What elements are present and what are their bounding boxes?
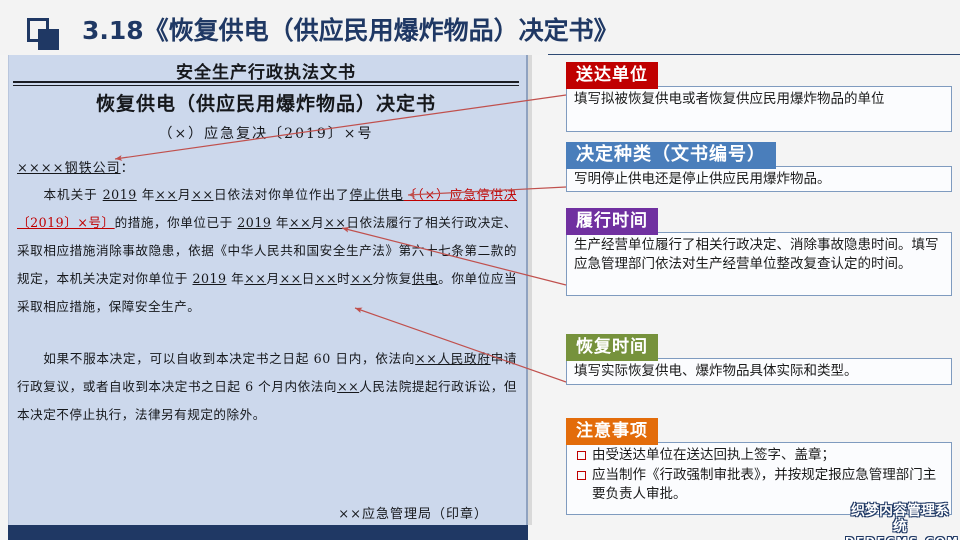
p1-seg-12: 年 (271, 215, 289, 230)
p1-month-3: ×× (244, 271, 266, 286)
p1-seg-7: 日依法对你单位作出了 (214, 187, 350, 202)
p1-hour: ×× (315, 271, 337, 286)
document-bottom-bar (8, 525, 528, 540)
p1-day-1: ×× (191, 187, 213, 202)
document-paragraph-2: 如果不服本决定，可以自收到本决定书之日起 60 日内，依法向××人民政府申请行政… (17, 345, 517, 429)
p2-seg-1: 如果不服本决定，可以自收到本决定书之日起 60 日内，依法向 (43, 351, 415, 366)
p1-year-1: 2019 (103, 187, 137, 202)
annotation-panel-performance-time[interactable]: 履行时间 生产经营单位履行了相关行政决定、消除事故隐患时间。填写应急管理部门依法… (566, 208, 952, 296)
panel-tag-label: 决定种类（文书编号） (566, 142, 776, 169)
p1-measure: 停止供电 (350, 187, 404, 202)
p1-year-2: 2019 (237, 215, 271, 230)
watermark: 织梦内容管理系统 DEDECMS.COM (845, 503, 955, 540)
annotation-panel-notes[interactable]: 注意事项 由受送达单位在送达回执上签字、盖章； 应当制作《行政强制审批表》，并按… (566, 418, 952, 515)
p1-month-1: ×× (155, 187, 177, 202)
slide-header: 3.18《恢复供电（供应民用爆炸物品）决定书》 (0, 0, 960, 55)
document-heading-small: 安全生产行政执法文书 (9, 58, 523, 83)
panel-body-text: 写明停止供电还是停止供应民用爆炸物品。 (566, 166, 952, 192)
double-square-logo-icon (27, 18, 61, 52)
p2-court: ×× (337, 379, 359, 394)
p1-seg-14: 月 (311, 215, 324, 230)
p1-seg-24: 时 (337, 271, 350, 286)
note-text: 由受送达单位在送达回执上签字、盖章； (592, 446, 944, 465)
document-right-edge (528, 55, 532, 525)
checkbox-square-icon (577, 451, 586, 460)
p1-day-2: ×× (324, 215, 346, 230)
page-title: 3.18《恢复供电（供应民用爆炸物品）决定书》 (82, 15, 619, 47)
p1-seg-20: 月 (266, 271, 279, 286)
note-text: 应当制作《行政强制审批表》，并按规定报应急管理部门主要负责人审批。 (592, 466, 944, 504)
panel-body-text: 填写拟被恢复供电或者恢复供应民用爆炸物品的单位 (566, 86, 952, 132)
watermark-cn: 织梦内容管理系统 (845, 503, 955, 535)
document-heading-large: 恢复供电（供应民用爆炸物品）决定书 (9, 89, 523, 116)
document-paragraph-1: 本机关于 2019 年××月××日依法对你单位作出了停止供电〔（×）应急停供决〔… (17, 181, 517, 321)
header-divider (548, 54, 960, 55)
panel-body-text: 生产经营单位履行了相关行政决定、消除事故隐患时间。填写应急管理部门依法对生产经营… (566, 232, 952, 296)
p1-seg-10: 的措施，你单位已于 (115, 215, 238, 230)
document-preview[interactable]: 安全生产行政执法文书 恢复供电（供应民用爆炸物品）决定书 （×）应急复决〔201… (8, 55, 528, 525)
slide-canvas: 3.18《恢复供电（供应民用爆炸物品）决定书》 安全生产行政执法文书 恢复供电（… (0, 0, 960, 540)
annotation-panel-restore-time[interactable]: 恢复时间 填写实际恢复供电、爆炸物品具体实际和类型。 (566, 334, 952, 385)
note-item: 应当制作《行政强制审批表》，并按规定报应急管理部门主要负责人审批。 (577, 466, 944, 504)
panel-tag-label: 恢复时间 (566, 334, 658, 361)
panel-tag-label: 注意事项 (566, 418, 658, 445)
p1-seg-5: 月 (177, 187, 191, 202)
note-item: 由受送达单位在送达回执上签字、盖章； (577, 446, 944, 465)
document-top-rule (13, 81, 519, 86)
panel-tag-label: 履行时间 (566, 208, 658, 235)
p1-seg-26: 分恢复 (372, 271, 412, 286)
document-addressee: ××××钢铁公司： (17, 157, 135, 176)
p1-seg-3: 年 (137, 187, 156, 202)
p1-year-3: 2019 (193, 271, 227, 286)
annotation-panel-decision-type[interactable]: 决定种类（文书编号） 写明停止供电还是停止供应民用爆炸物品。 (566, 142, 952, 192)
p1-minute: ×× (350, 271, 372, 286)
document-number: （×）应急复决〔2019〕×号 (9, 123, 523, 143)
panel-tag-label: 送达单位 (566, 62, 658, 89)
p1-month-2: ×× (289, 215, 311, 230)
p2-government: ××人民政府 (415, 351, 490, 366)
document-signature-org: ××应急管理局（印章） (338, 503, 488, 522)
p1-seg-1: 本机关于 (43, 187, 103, 202)
annotation-panel-delivery-unit[interactable]: 送达单位 填写拟被恢复供电或者恢复供应民用爆炸物品的单位 (566, 62, 952, 132)
watermark-en: DEDECMS.COM (845, 535, 955, 540)
p1-day-3: ×× (280, 271, 302, 286)
p1-seg-22: 日 (302, 271, 315, 286)
logo-filled-square (38, 29, 59, 50)
panel-body-text: 填写实际恢复供电、爆炸物品具体实际和类型。 (566, 358, 952, 385)
addressee-colon: ： (121, 161, 135, 176)
addressee-name: ××××钢铁公司 (17, 161, 121, 176)
p1-restore-type: 供电 (412, 271, 438, 286)
checkbox-square-icon (577, 471, 586, 480)
p1-seg-18: 年 (227, 271, 245, 286)
